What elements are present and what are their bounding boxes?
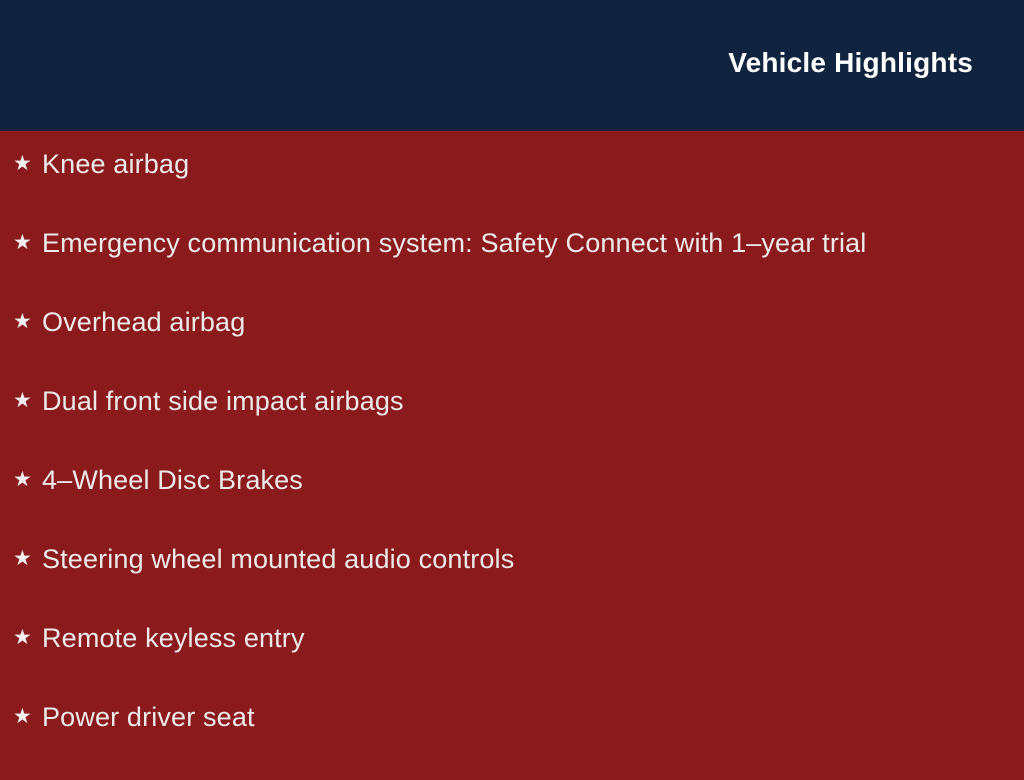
list-item: ★ Overhead airbag — [0, 306, 1024, 385]
list-item-label: Overhead airbag — [42, 306, 1024, 338]
vehicle-highlights-list: ★ Knee airbag ★ Emergency communication … — [0, 131, 1024, 780]
list-item: ★ Knee airbag — [0, 131, 1024, 227]
list-item: ★ Dual front side impact airbags — [0, 385, 1024, 464]
list-item: ★ Emergency communication system: Safety… — [0, 227, 1024, 306]
slide-body: ★ Knee airbag ★ Emergency communication … — [0, 131, 1024, 768]
list-item-label: Dual front side impact airbags — [42, 385, 1024, 417]
star-bullet-icon: ★ — [13, 311, 42, 332]
star-bullet-icon: ★ — [13, 232, 42, 253]
star-bullet-icon: ★ — [13, 153, 42, 174]
list-item: ★ 4–Wheel Disc Brakes — [0, 464, 1024, 543]
page-title: Vehicle Highlights — [728, 46, 973, 80]
star-bullet-icon: ★ — [13, 469, 42, 490]
list-item: ★ Remote keyless entry — [0, 622, 1024, 701]
star-bullet-icon: ★ — [13, 548, 42, 569]
list-item-label: 4–Wheel Disc Brakes — [42, 464, 1024, 496]
list-item: ★ Power driver seat — [0, 701, 1024, 780]
star-bullet-icon: ★ — [13, 706, 42, 727]
list-item-label: Remote keyless entry — [42, 622, 1024, 654]
list-item-label: Steering wheel mounted audio controls — [42, 543, 1024, 575]
list-item: ★ Steering wheel mounted audio controls — [0, 543, 1024, 622]
star-bullet-icon: ★ — [13, 627, 42, 648]
list-item-label: Knee airbag — [42, 148, 1024, 180]
star-bullet-icon: ★ — [13, 390, 42, 411]
slide: Vehicle Highlights ★ Knee airbag ★ Emerg… — [0, 0, 1024, 768]
slide-header: Vehicle Highlights — [0, 0, 1024, 131]
list-item-label: Emergency communication system: Safety C… — [42, 227, 1024, 259]
list-item-label: Power driver seat — [42, 701, 1024, 733]
